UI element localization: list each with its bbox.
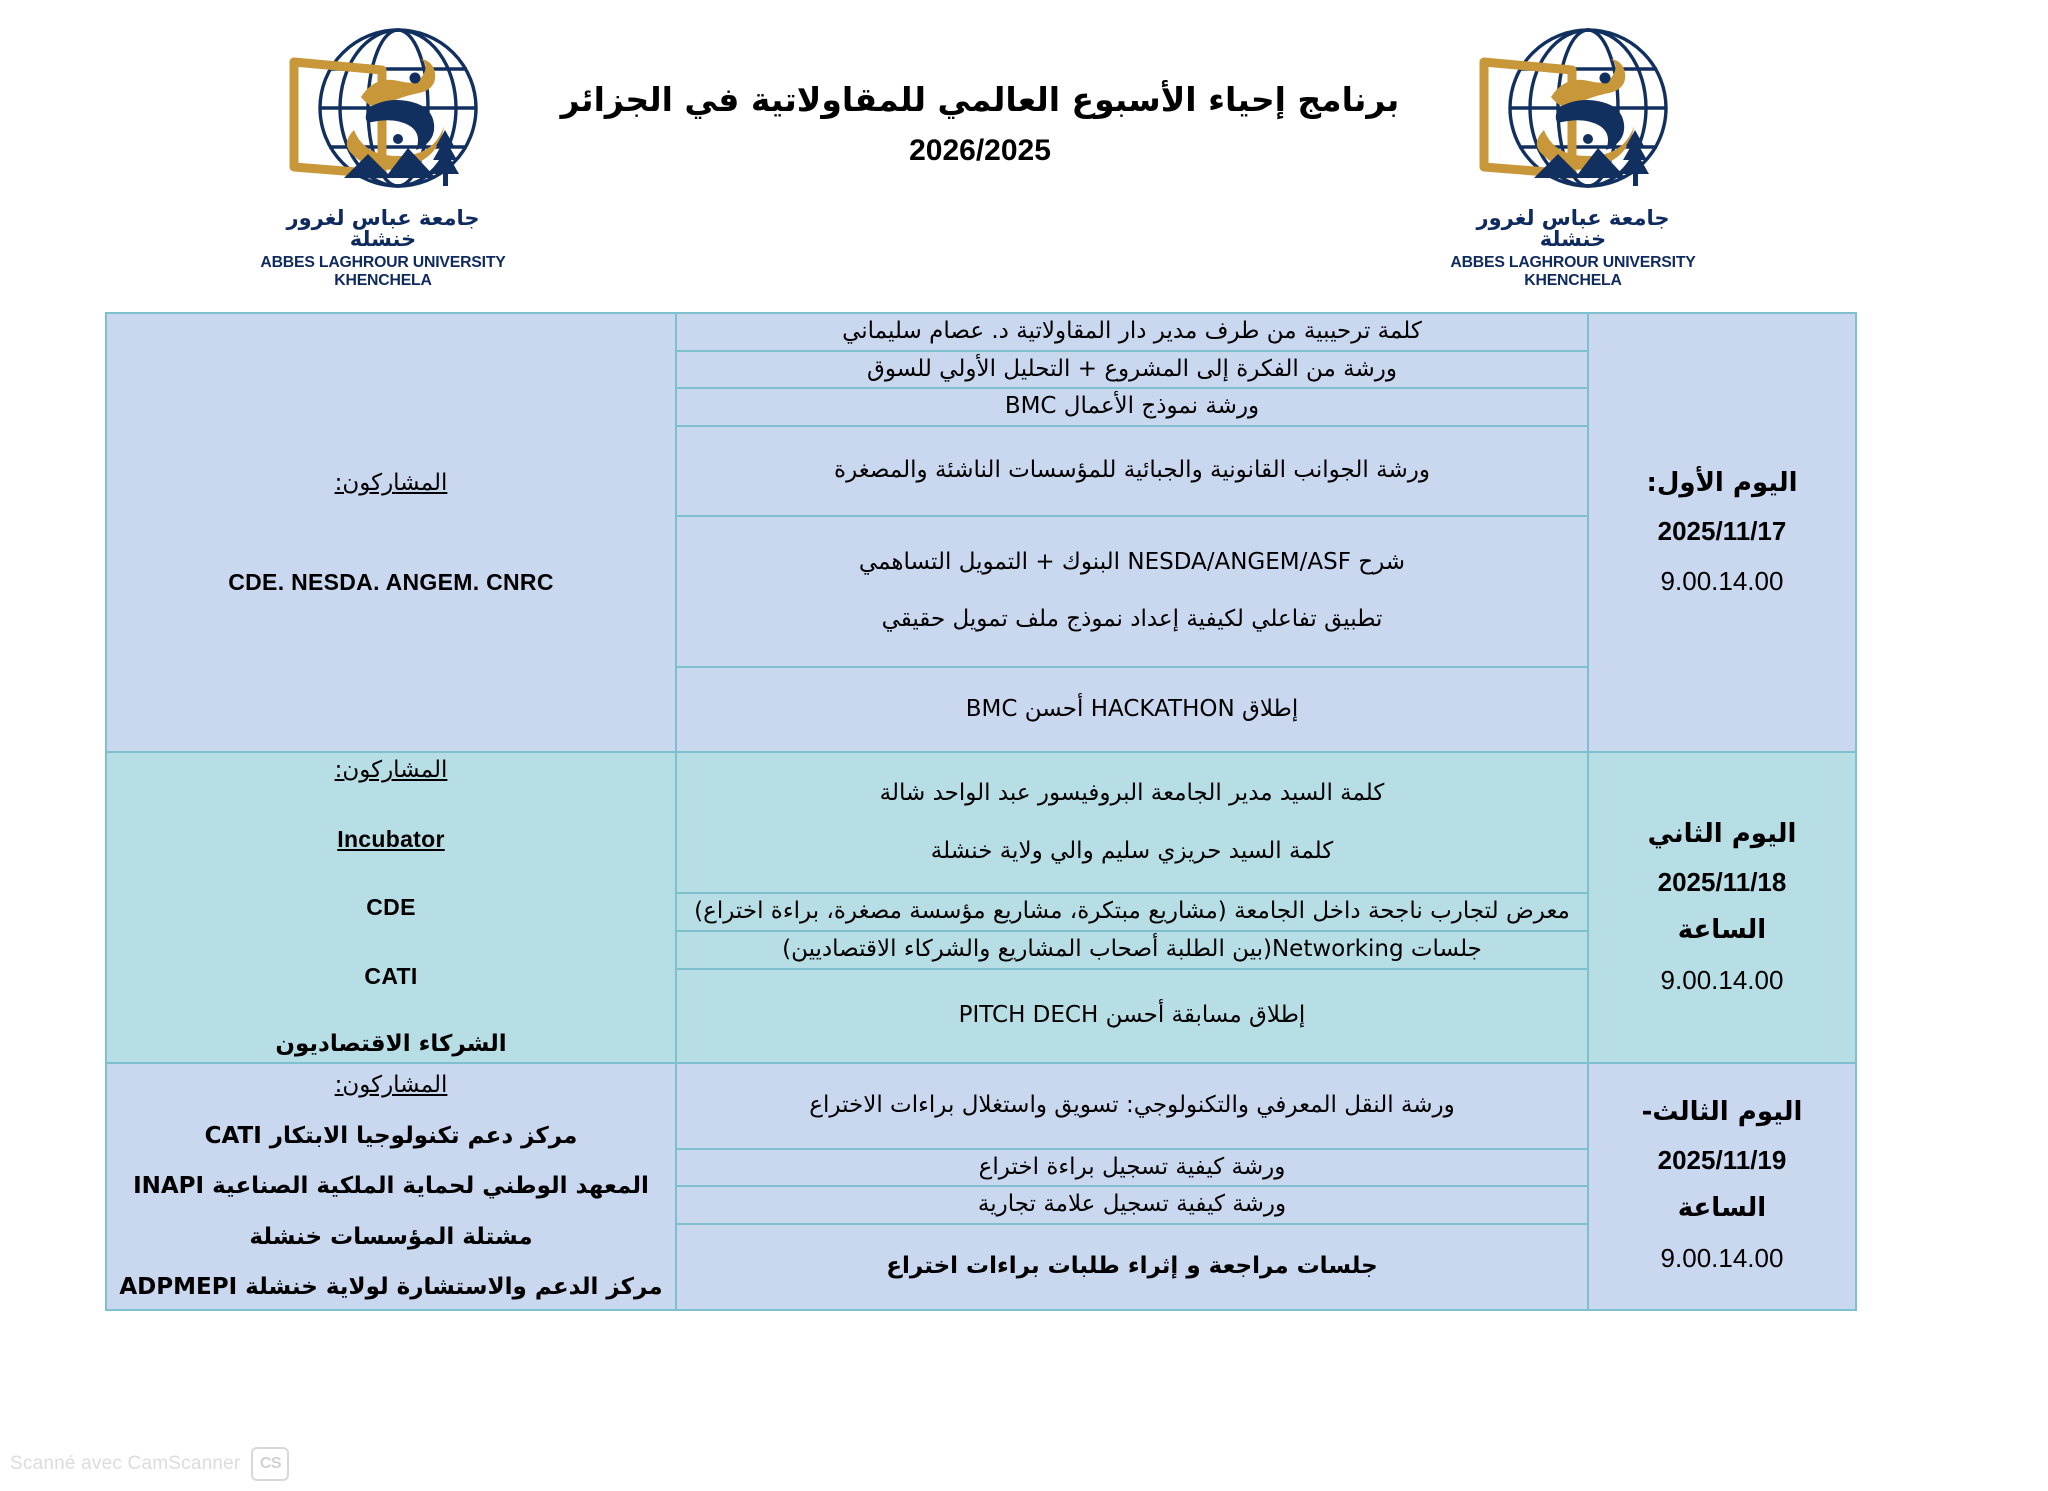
activity-cell: ورشة من الفكرة إلى المشروع + التحليل الأ… xyxy=(676,351,1588,389)
activity-line: شرح NESDA/ANGEM/ASF البنوك + التمويل الت… xyxy=(677,545,1587,581)
table-row: اليوم الثاني 2025/11/18 الساعة 9.00.14.0… xyxy=(106,752,1856,892)
camscanner-text: Scanné avec CamScanner xyxy=(10,1453,240,1475)
day-hours-label: الساعة xyxy=(1589,1184,1855,1232)
day-date: 2025/11/17 xyxy=(1589,507,1855,555)
activity-line: تطبيق تفاعلي لكيفية إعداد نموذج ملف تموي… xyxy=(677,602,1587,638)
day-date: 2025/11/19 xyxy=(1589,1136,1855,1184)
day-date: 2025/11/18 xyxy=(1589,858,1855,906)
participant-item: مركز الدعم والاستشارة لولاية خنشلة ADPME… xyxy=(107,1270,675,1305)
activity-cell: جلسات مراجعة و إثراء طلبات براءات اختراع xyxy=(676,1224,1588,1310)
activity-cell: كلمة السيد مدير الجامعة البروفيسور عبد ا… xyxy=(676,752,1588,892)
day-section-3: اليوم الثالث- 2025/11/19 الساعة 9.00.14.… xyxy=(106,1063,1856,1310)
activity-cell: ورشة الجوانب القانونية والجبائية للمؤسسا… xyxy=(676,426,1588,516)
participant-item: CATI xyxy=(107,959,675,994)
activity-line: جلسات Networking(بين الطلبة أصحاب المشار… xyxy=(677,932,1587,968)
activity-cell: إطلاق مسابقة أحسن PITCH DECH xyxy=(676,969,1588,1063)
activity-line: إطلاق HACKATHON أحسن BMC xyxy=(677,692,1587,728)
document-header: جامعة عباس لغرور خنشلة ABBES LAGHROUR UN… xyxy=(0,0,2048,290)
activity-line: معرض لتجارب ناجحة داخل الجامعة (مشاريع م… xyxy=(677,894,1587,930)
activity-cell: ورشة نموذج الأعمال BMC xyxy=(676,388,1588,426)
activity-cell: جلسات Networking(بين الطلبة أصحاب المشار… xyxy=(676,931,1588,969)
table-row: اليوم الأول: 2025/11/17 9.00.14.00 كلمة … xyxy=(106,313,1856,351)
university-logo-mark-icon xyxy=(258,22,508,214)
table-row: اليوم الثالث- 2025/11/19 الساعة 9.00.14.… xyxy=(106,1063,1856,1149)
camscanner-badge-icon: CS xyxy=(251,1447,289,1481)
activity-cell: معرض لتجارب ناجحة داخل الجامعة (مشاريع م… xyxy=(676,893,1588,931)
university-logo-right: جامعة عباس لغرور خنشلة ABBES LAGHROUR UN… xyxy=(1448,22,1698,272)
day-hours-label: الساعة xyxy=(1589,906,1855,954)
camscanner-watermark: CS Scanné avec CamScanner xyxy=(10,1447,289,1481)
day-header-cell-1: اليوم الأول: 2025/11/17 9.00.14.00 xyxy=(1588,313,1856,752)
logo-arabic-name: جامعة عباس لغرور خنشلة xyxy=(258,208,508,250)
university-logo-mark-icon xyxy=(1448,22,1698,214)
logo-english-name: ABBES LAGHROUR UNIVERSITY KHENCHELA xyxy=(256,254,511,290)
activity-cell: ورشة النقل المعرفي والتكنولوجي: تسويق وا… xyxy=(676,1063,1588,1149)
day-title: اليوم الثاني xyxy=(1589,810,1855,858)
participants-cell-2: المشاركون: Incubator CDE CATI الشركاء ال… xyxy=(106,752,676,1063)
day-section-1: اليوم الأول: 2025/11/17 9.00.14.00 كلمة … xyxy=(106,313,1856,752)
participant-item: CDE. NESDA. ANGEM. CNRC xyxy=(107,565,675,600)
day-header-cell-2: اليوم الثاني 2025/11/18 الساعة 9.00.14.0… xyxy=(1588,752,1856,1063)
activity-line: ورشة كيفية تسجيل براءة اختراع xyxy=(677,1150,1587,1186)
activity-line: ورشة النقل المعرفي والتكنولوجي: تسويق وا… xyxy=(677,1088,1587,1124)
page-title-block: برنامج إحياء الأسبوع العالمي للمقاولاتية… xyxy=(540,78,1420,172)
participants-cell-3: المشاركون: مركز دعم تكنولوجيا الابتكار C… xyxy=(106,1063,676,1310)
participants-heading: المشاركون: xyxy=(107,1068,675,1103)
activity-line: كلمة السيد مدير الجامعة البروفيسور عبد ا… xyxy=(677,776,1587,812)
activity-line: إطلاق مسابقة أحسن PITCH DECH xyxy=(677,998,1587,1034)
page-title: برنامج إحياء الأسبوع العالمي للمقاولاتية… xyxy=(540,78,1420,123)
activity-cell: كلمة ترحيبية من طرف مدير دار المقاولاتية… xyxy=(676,313,1588,351)
day-section-2: اليوم الثاني 2025/11/18 الساعة 9.00.14.0… xyxy=(106,752,1856,1063)
day-hours: 9.00.14.00 xyxy=(1589,555,1855,607)
participant-item: مركز دعم تكنولوجيا الابتكار CATI xyxy=(107,1119,675,1154)
logo-arabic-name: جامعة عباس لغرور خنشلة xyxy=(1448,208,1698,250)
activity-line: ورشة نموذج الأعمال BMC xyxy=(677,389,1587,425)
day-title: اليوم الأول: xyxy=(1589,459,1855,507)
activity-line: ورشة من الفكرة إلى المشروع + التحليل الأ… xyxy=(677,352,1587,388)
activity-line: كلمة ترحيبية من طرف مدير دار المقاولاتية… xyxy=(677,314,1587,350)
participants-heading: المشاركون: xyxy=(107,753,675,788)
activity-line: جلسات مراجعة و إثراء طلبات براءات اختراع xyxy=(677,1249,1587,1285)
participant-item: Incubator xyxy=(107,822,675,857)
logo-english-name: ABBES LAGHROUR UNIVERSITY KHENCHELA xyxy=(1446,254,1701,290)
activity-cell: ورشة كيفية تسجيل براءة اختراع xyxy=(676,1149,1588,1187)
participant-item: CDE xyxy=(107,890,675,925)
program-schedule-table: اليوم الأول: 2025/11/17 9.00.14.00 كلمة … xyxy=(105,312,1857,1311)
activity-line: ورشة الجوانب القانونية والجبائية للمؤسسا… xyxy=(677,453,1587,489)
participant-item: المعهد الوطني لحماية الملكية الصناعية IN… xyxy=(107,1169,675,1204)
participant-item: الشركاء الاقتصاديون xyxy=(107,1027,675,1062)
academic-year: 2026/2025 xyxy=(540,129,1420,173)
activity-cell: ورشة كيفية تسجيل علامة تجارية xyxy=(676,1186,1588,1224)
participants-cell-1: المشاركون: CDE. NESDA. ANGEM. CNRC xyxy=(106,313,676,752)
activity-cell: إطلاق HACKATHON أحسن BMC xyxy=(676,667,1588,753)
university-logo-left: جامعة عباس لغرور خنشلة ABBES LAGHROUR UN… xyxy=(258,22,508,272)
activity-cell: شرح NESDA/ANGEM/ASF البنوك + التمويل الت… xyxy=(676,516,1588,667)
participants-heading: المشاركون: xyxy=(107,466,675,501)
day-title: اليوم الثالث- xyxy=(1589,1088,1855,1136)
day-header-cell-3: اليوم الثالث- 2025/11/19 الساعة 9.00.14.… xyxy=(1588,1063,1856,1310)
activity-line: ورشة كيفية تسجيل علامة تجارية xyxy=(677,1187,1587,1223)
day-hours: 9.00.14.00 xyxy=(1589,954,1855,1006)
activity-line: كلمة السيد حريزي سليم والي ولاية خنشلة xyxy=(677,834,1587,870)
day-hours: 9.00.14.00 xyxy=(1589,1232,1855,1284)
participant-item: مشتلة المؤسسات خنشلة xyxy=(107,1220,675,1255)
